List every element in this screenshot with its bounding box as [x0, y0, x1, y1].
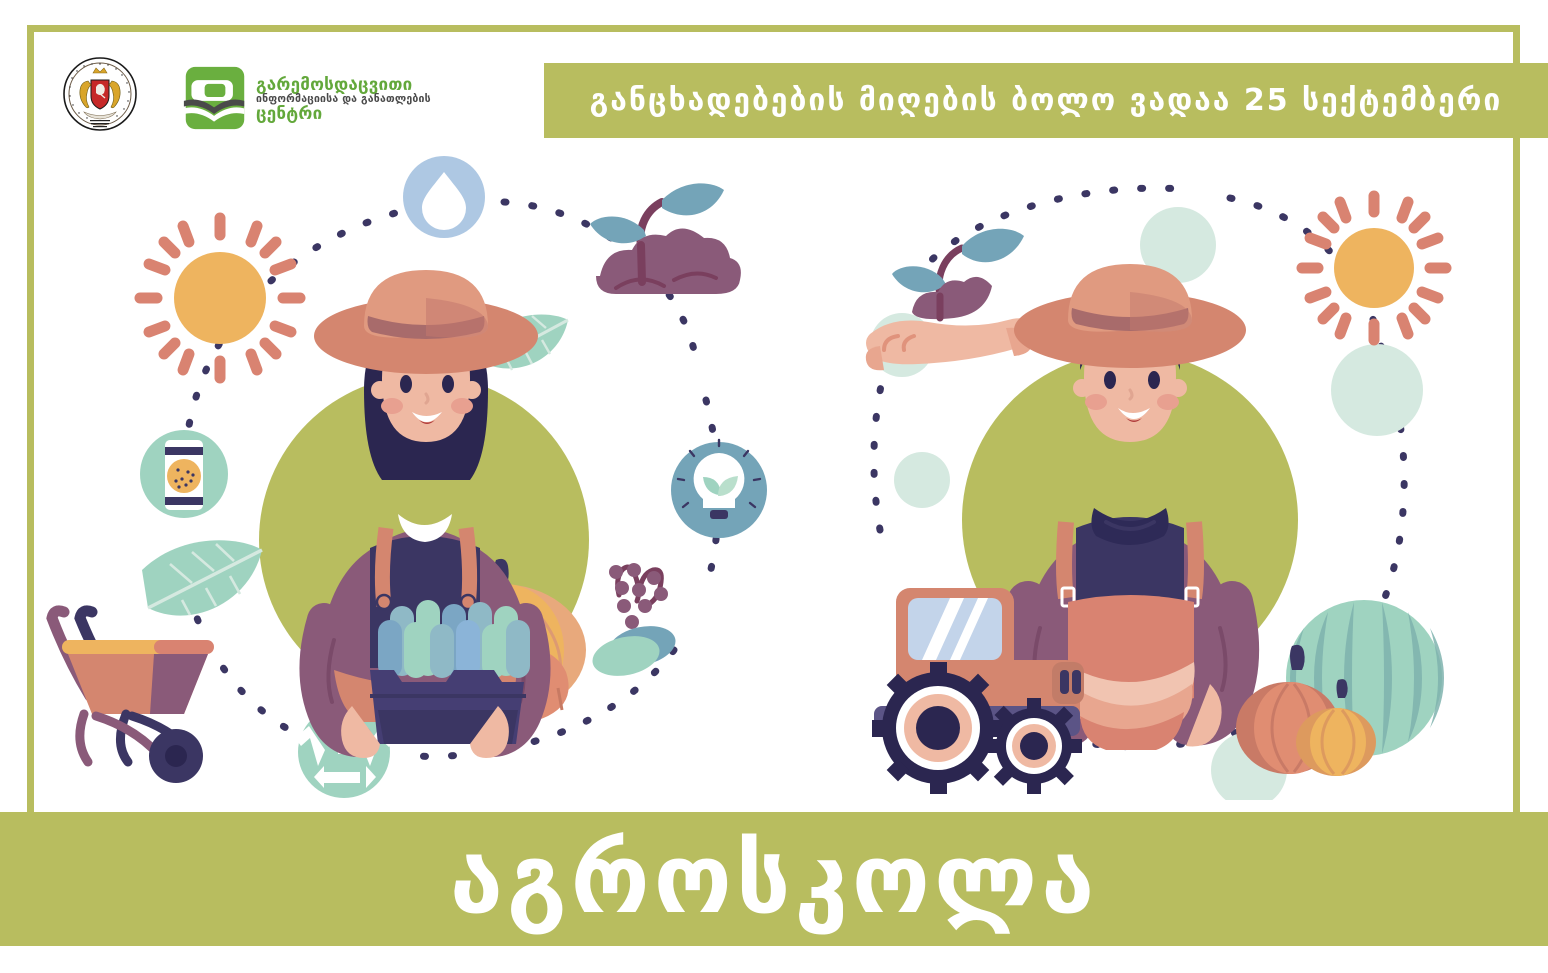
sun-icon	[140, 218, 300, 378]
poster-title: აგროსკოლა	[450, 831, 1098, 927]
illustration-stage	[34, 150, 1514, 800]
circle-decor-icon	[894, 452, 950, 508]
header-banner: განცხადებების მიღების ბოლო ვადაა 25 სექტ…	[544, 63, 1548, 138]
bottom-title-band: აგროსკოლა	[0, 812, 1548, 946]
gic-logo-text: გარემოსდაცვითი ინფორმაციისა და განათლები…	[256, 77, 431, 124]
gic-logo-line1: გარემოსდაცვითი	[256, 77, 431, 95]
watermelon-icon	[1236, 600, 1444, 776]
sprout-soil-icon	[590, 183, 741, 294]
circle-decor-icon	[1331, 344, 1423, 436]
left-scene	[52, 156, 767, 798]
lightbulb-leaf-icon	[671, 440, 767, 538]
gic-book-logo-icon	[182, 65, 248, 135]
header-banner-text: განცხადებების მიღების ბოლო ვადაა 25 სექტ…	[590, 86, 1503, 116]
right-scene	[866, 188, 1446, 800]
poster-root: გარემოსდაცვითი ინფორმაციისა და განათლები…	[0, 0, 1548, 973]
hand-sprout-icon	[866, 229, 1035, 370]
georgia-state-emblem-icon	[60, 54, 140, 146]
water-drop-icon	[403, 156, 485, 238]
jar-icon	[140, 430, 228, 518]
gic-logo: გარემოსდაცვითი ინფორმაციისა და განათლები…	[182, 65, 431, 135]
logo-row: გარემოსდაცვითი ინფორმაციისა და განათლები…	[60, 55, 431, 145]
leaf-icon	[142, 540, 262, 615]
wheelbarrow-icon	[52, 611, 214, 783]
gic-logo-line3: ცენტრი	[256, 106, 431, 124]
